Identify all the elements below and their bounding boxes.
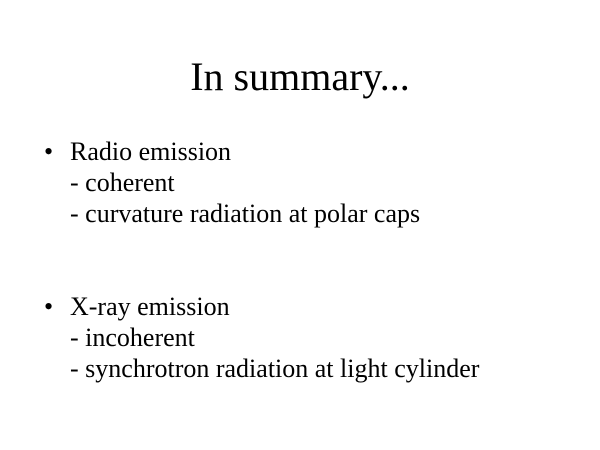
bullet-label: Radio emission [70, 137, 231, 166]
sub-item-curvature-radiation: - curvature radiation at polar caps [40, 198, 580, 229]
bullet-group-xray: • X-ray emission - incoherent - synchrot… [40, 291, 580, 384]
slide-body: • Radio emission - coherent - curvature … [40, 136, 580, 384]
bullet-item-radio-emission: • Radio emission [40, 136, 580, 167]
sub-item-label: - incoherent [70, 323, 195, 352]
bullet-group-radio: • Radio emission - coherent - curvature … [40, 136, 580, 229]
sub-item-label: - coherent [70, 168, 175, 197]
sub-item-synchrotron-radiation: - synchrotron radiation at light cylinde… [40, 353, 580, 384]
sub-item-incoherent: - incoherent [40, 322, 580, 353]
bullet-dot-icon: • [44, 136, 62, 167]
bullet-item-xray-emission: • X-ray emission [40, 291, 580, 322]
presentation-slide: In summary... • Radio emission - coheren… [0, 0, 600, 450]
sub-item-label: - synchrotron radiation at light cylinde… [70, 354, 479, 383]
sub-item-coherent: - coherent [40, 167, 580, 198]
sub-item-label: - curvature radiation at polar caps [70, 199, 420, 228]
bullet-dot-icon: • [44, 291, 62, 322]
page-title: In summary... [0, 56, 600, 98]
bullet-label: X-ray emission [70, 292, 230, 321]
